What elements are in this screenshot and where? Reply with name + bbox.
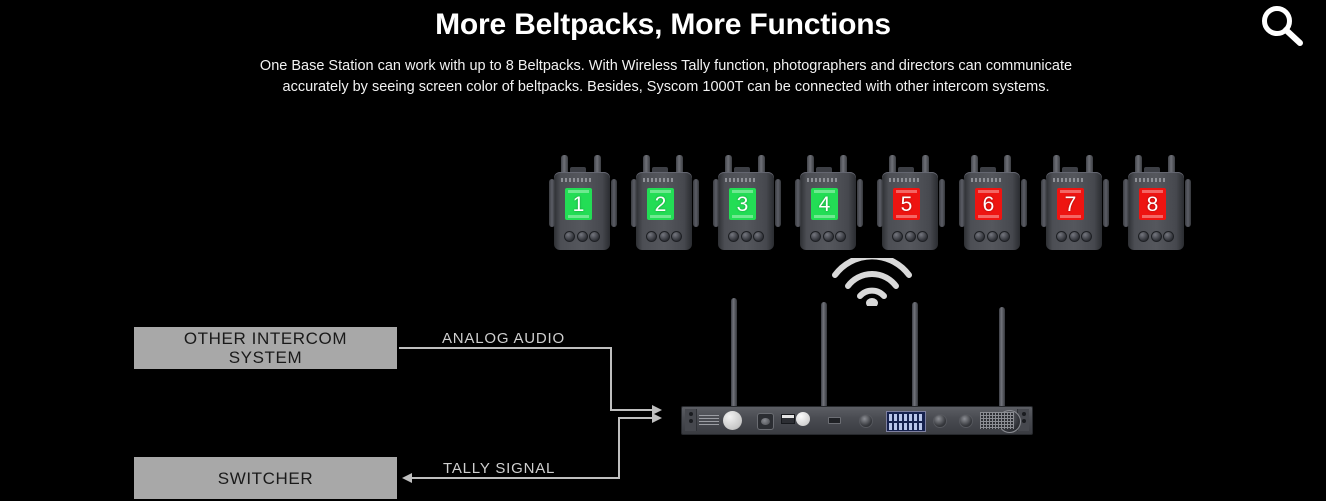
beltpack-knob[interactable] (753, 231, 764, 242)
beltpack-3[interactable]: 3 (713, 155, 781, 251)
beltpack-knobs[interactable] (564, 231, 600, 242)
beltpack-knob[interactable] (1163, 231, 1174, 242)
beltpack-knob[interactable] (728, 231, 739, 242)
beltpack-side-left (631, 179, 637, 227)
beltpack-screen: 1 (565, 188, 592, 220)
beltpack-knob[interactable] (987, 231, 998, 242)
beltpack-screen: 6 (975, 188, 1002, 220)
beltpack-knob[interactable] (646, 231, 657, 242)
search-icon[interactable] (1254, 2, 1310, 52)
tally-signal-line-arrow-stem (618, 417, 654, 419)
beltpack-knob[interactable] (589, 231, 600, 242)
beltpack-knob[interactable] (659, 231, 670, 242)
toggle-switch[interactable] (781, 414, 795, 424)
beltpack-knob[interactable] (1081, 231, 1092, 242)
base-station-antenna-3 (912, 302, 918, 420)
beltpack-side-left (795, 179, 801, 227)
base-station-antenna-2 (821, 302, 827, 420)
page-title: More Beltpacks, More Functions (0, 8, 1326, 42)
beltpack-knob[interactable] (1056, 231, 1067, 242)
beltpack-knobs[interactable] (1056, 231, 1092, 242)
beltpack-brand-logo (725, 178, 755, 182)
beltpack-screen: 3 (729, 188, 756, 220)
tally-signal-line-horizontal (412, 477, 620, 479)
beltpack-number: 2 (655, 194, 667, 215)
base-station-antenna-1 (731, 298, 737, 420)
beltpack-side-left (959, 179, 965, 227)
beltpack-knob[interactable] (905, 231, 916, 242)
analog-audio-line-arrow-stem (610, 409, 654, 411)
base-station[interactable] (681, 300, 1031, 435)
beltpack-side-right (857, 179, 863, 227)
beltpack-1[interactable]: 1 (549, 155, 617, 251)
beltpack-number: 6 (983, 194, 995, 215)
beltpack-8[interactable]: 8 (1123, 155, 1191, 251)
other-intercom-label-line1: OTHER INTERCOM (184, 329, 347, 348)
page-subtitle: One Base Station can work with up to 8 B… (233, 56, 1099, 98)
beltpack-brand-logo (561, 178, 591, 182)
xlr-connector[interactable] (757, 413, 774, 430)
tally-signal-arrow-to-switcher (402, 473, 412, 483)
beltpack-knob[interactable] (999, 231, 1010, 242)
beltpack-knob[interactable] (1138, 231, 1149, 242)
beltpack-knob[interactable] (741, 231, 752, 242)
beltpack-knob[interactable] (564, 231, 575, 242)
beltpack-knobs[interactable] (974, 231, 1010, 242)
beltpack-side-right (775, 179, 781, 227)
main-volume-knob[interactable] (723, 411, 742, 430)
beltpack-2[interactable]: 2 (631, 155, 699, 251)
audio-jack-3[interactable] (959, 414, 973, 428)
analog-audio-line-horizontal (399, 347, 612, 349)
beltpack-knobs[interactable] (1138, 231, 1174, 242)
beltpack-brand-logo (971, 178, 1001, 182)
beltpack-knob[interactable] (577, 231, 588, 242)
beltpack-number: 7 (1065, 194, 1077, 215)
beltpack-knob[interactable] (835, 231, 846, 242)
beltpack-knob[interactable] (917, 231, 928, 242)
beltpack-knob[interactable] (823, 231, 834, 242)
beltpack-number: 8 (1147, 194, 1159, 215)
beltpack-side-left (1041, 179, 1047, 227)
beltpack-knobs[interactable] (810, 231, 846, 242)
round-button[interactable] (796, 412, 810, 426)
lcd-display (886, 411, 926, 432)
beltpack-knobs[interactable] (646, 231, 682, 242)
beltpack-side-right (1021, 179, 1027, 227)
beltpack-side-left (549, 179, 555, 227)
beltpack-brand-logo (807, 178, 837, 182)
beltpack-knob[interactable] (974, 231, 985, 242)
beltpack-number: 5 (901, 194, 913, 215)
beltpack-side-right (611, 179, 617, 227)
beltpack-4[interactable]: 4 (795, 155, 863, 251)
tally-signal-line-vertical (618, 417, 620, 479)
tally-signal-label: TALLY SIGNAL (443, 460, 555, 477)
beltpack-knob[interactable] (671, 231, 682, 242)
switcher-box[interactable]: SWITCHER (132, 455, 399, 501)
beltpack-number: 3 (737, 194, 749, 215)
wifi-icon (831, 258, 913, 306)
beltpack-knob[interactable] (1151, 231, 1162, 242)
beltpack-brand-logo (889, 178, 919, 182)
beltpack-number: 1 (573, 194, 585, 215)
beltpack-screen: 5 (893, 188, 920, 220)
beltpack-5[interactable]: 5 (877, 155, 945, 251)
beltpack-screen: 4 (811, 188, 838, 220)
beltpack-number: 4 (819, 194, 831, 215)
rack-ear-left (685, 409, 697, 431)
beltpack-brand-logo (643, 178, 673, 182)
beltpack-knob[interactable] (810, 231, 821, 242)
base-station-antenna-4 (999, 307, 1005, 420)
beltpack-screen: 8 (1139, 188, 1166, 220)
beltpack-screen: 2 (647, 188, 674, 220)
beltpack-brand-logo (1053, 178, 1083, 182)
beltpack-7[interactable]: 7 (1041, 155, 1109, 251)
analog-audio-line-vertical (610, 347, 612, 410)
beltpack-side-left (713, 179, 719, 227)
beltpack-knobs[interactable] (728, 231, 764, 242)
beltpack-side-left (1123, 179, 1129, 227)
port-slot[interactable] (828, 417, 841, 424)
vent-slots (699, 415, 719, 426)
beltpack-screen: 7 (1057, 188, 1084, 220)
speaker-grille (980, 412, 1014, 429)
audio-jack-1[interactable] (859, 414, 873, 428)
beltpack-side-right (1185, 179, 1191, 227)
beltpack-6[interactable]: 6 (959, 155, 1027, 251)
beltpack-side-right (1103, 179, 1109, 227)
other-intercom-system-box[interactable]: OTHER INTERCOM SYSTEM (132, 325, 399, 371)
switcher-label: SWITCHER (218, 469, 313, 488)
beltpack-knobs[interactable] (892, 231, 928, 242)
beltpack-side-left (877, 179, 883, 227)
beltpack-brand-logo (1135, 178, 1165, 182)
beltpack-side-right (939, 179, 945, 227)
beltpack-knob[interactable] (892, 231, 903, 242)
tally-signal-arrow-to-base (652, 413, 662, 423)
beltpack-knob[interactable] (1069, 231, 1080, 242)
analog-audio-label: ANALOG AUDIO (442, 330, 565, 347)
beltpack-side-right (693, 179, 699, 227)
beltpack-row: 1 2 (549, 155, 1199, 253)
audio-jack-2[interactable] (933, 414, 947, 428)
base-station-chassis (681, 406, 1033, 435)
other-intercom-label-line2: SYSTEM (184, 348, 347, 367)
